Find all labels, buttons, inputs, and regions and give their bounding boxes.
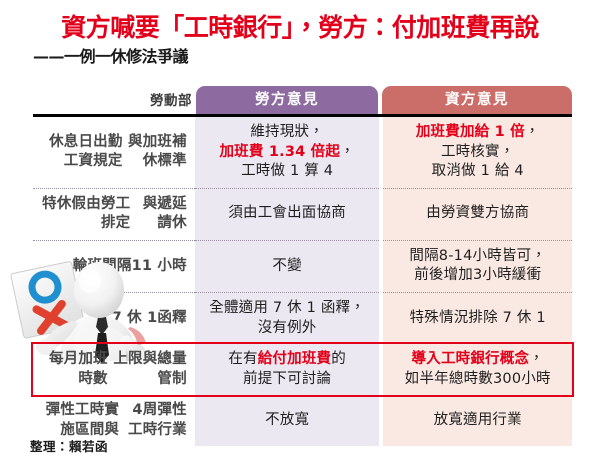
row-employer-opinion-cell: 由勞資雙方協商: [383, 188, 572, 240]
row-topic-cell: 休息日出勤工資規定與加班補休標準: [33, 117, 195, 188]
table-row: 特休假由勞工排定與遞延請休須由工會出面協商由勞資雙方協商: [33, 188, 572, 240]
row-labor-opinion-cell: 維持現狀，加班費 1.34 倍起，工時做 1 算 4: [195, 117, 380, 188]
row-topic-cell: 輪班間隔11 小時: [33, 240, 195, 292]
row-employer-opinion-cell: 導入工時銀行概念，如半年總時數300小時: [383, 344, 572, 395]
row-employer-opinion-cell: 加班費加給 1 倍，工時核實，取消做 1 給 4: [383, 117, 572, 188]
table-row: 休息日出勤工資規定與加班補休標準維持現狀，加班費 1.34 倍起，工時做 1 算…: [33, 117, 572, 188]
table-header-labor-badge: 勞方意見: [196, 86, 378, 114]
title-block: 資方喊要「工時銀行」，勞方：付加班費再說 ——一例一休修法爭議: [0, 14, 600, 65]
table-header-row: 勞動部 勞方意見 資方意見: [33, 86, 572, 114]
row-labor-opinion-cell: 在有給付加班費的前提下可討論: [195, 344, 380, 395]
row-employer-opinion-cell: 放寬適用行業: [383, 395, 572, 446]
row-labor-opinion-cell: 不放寬: [195, 395, 380, 446]
table-header-employer-badge: 資方意見: [382, 86, 572, 114]
credit-line: 整理：賴若函: [30, 436, 108, 455]
table-body: 休息日出勤工資規定與加班補休標準維持現狀，加班費 1.34 倍起，工時做 1 算…: [33, 117, 572, 446]
row-employer-opinion-cell: 間隔8-14小時皆可，前後增加3小時緩衝: [383, 240, 572, 292]
row-topic-cell: 特休假由勞工排定與遞延請休: [33, 188, 195, 240]
page-subtitle: ——一例一休修法爭議: [33, 48, 600, 66]
row-labor-opinion-cell: 不變: [195, 240, 380, 292]
page-title: 資方喊要「工時銀行」，勞方：付加班費再說: [0, 14, 600, 43]
table-row: 每月加班時數上限與總量管制在有給付加班費的前提下可討論導入工時銀行概念，如半年總…: [33, 344, 572, 395]
comparison-table: 勞動部 勞方意見 資方意見 休息日出勤工資規定與加班補休標準維持現狀，加班費 1…: [33, 86, 572, 446]
row-labor-opinion-cell: 全體適用 7 休 1 函釋，沒有例外: [195, 292, 380, 344]
row-labor-opinion-cell: 須由工會出面協商: [195, 188, 380, 240]
row-topic-cell: 7 休 1函釋: [33, 292, 195, 344]
table-row: 輪班間隔11 小時不變間隔8-14小時皆可，前後增加3小時緩衝: [33, 240, 572, 292]
row-employer-opinion-cell: 特殊情況排除 7 休 1: [383, 292, 572, 344]
table-header-ministry-label: 勞動部: [33, 89, 196, 109]
table-row: 彈性工時實施區間與4周彈性工時行業不放寬放寬適用行業: [33, 395, 572, 446]
table-row: 7 休 1函釋全體適用 7 休 1 函釋，沒有例外特殊情況排除 7 休 1: [33, 292, 572, 344]
row-topic-cell: 每月加班時數上限與總量管制: [33, 344, 195, 395]
